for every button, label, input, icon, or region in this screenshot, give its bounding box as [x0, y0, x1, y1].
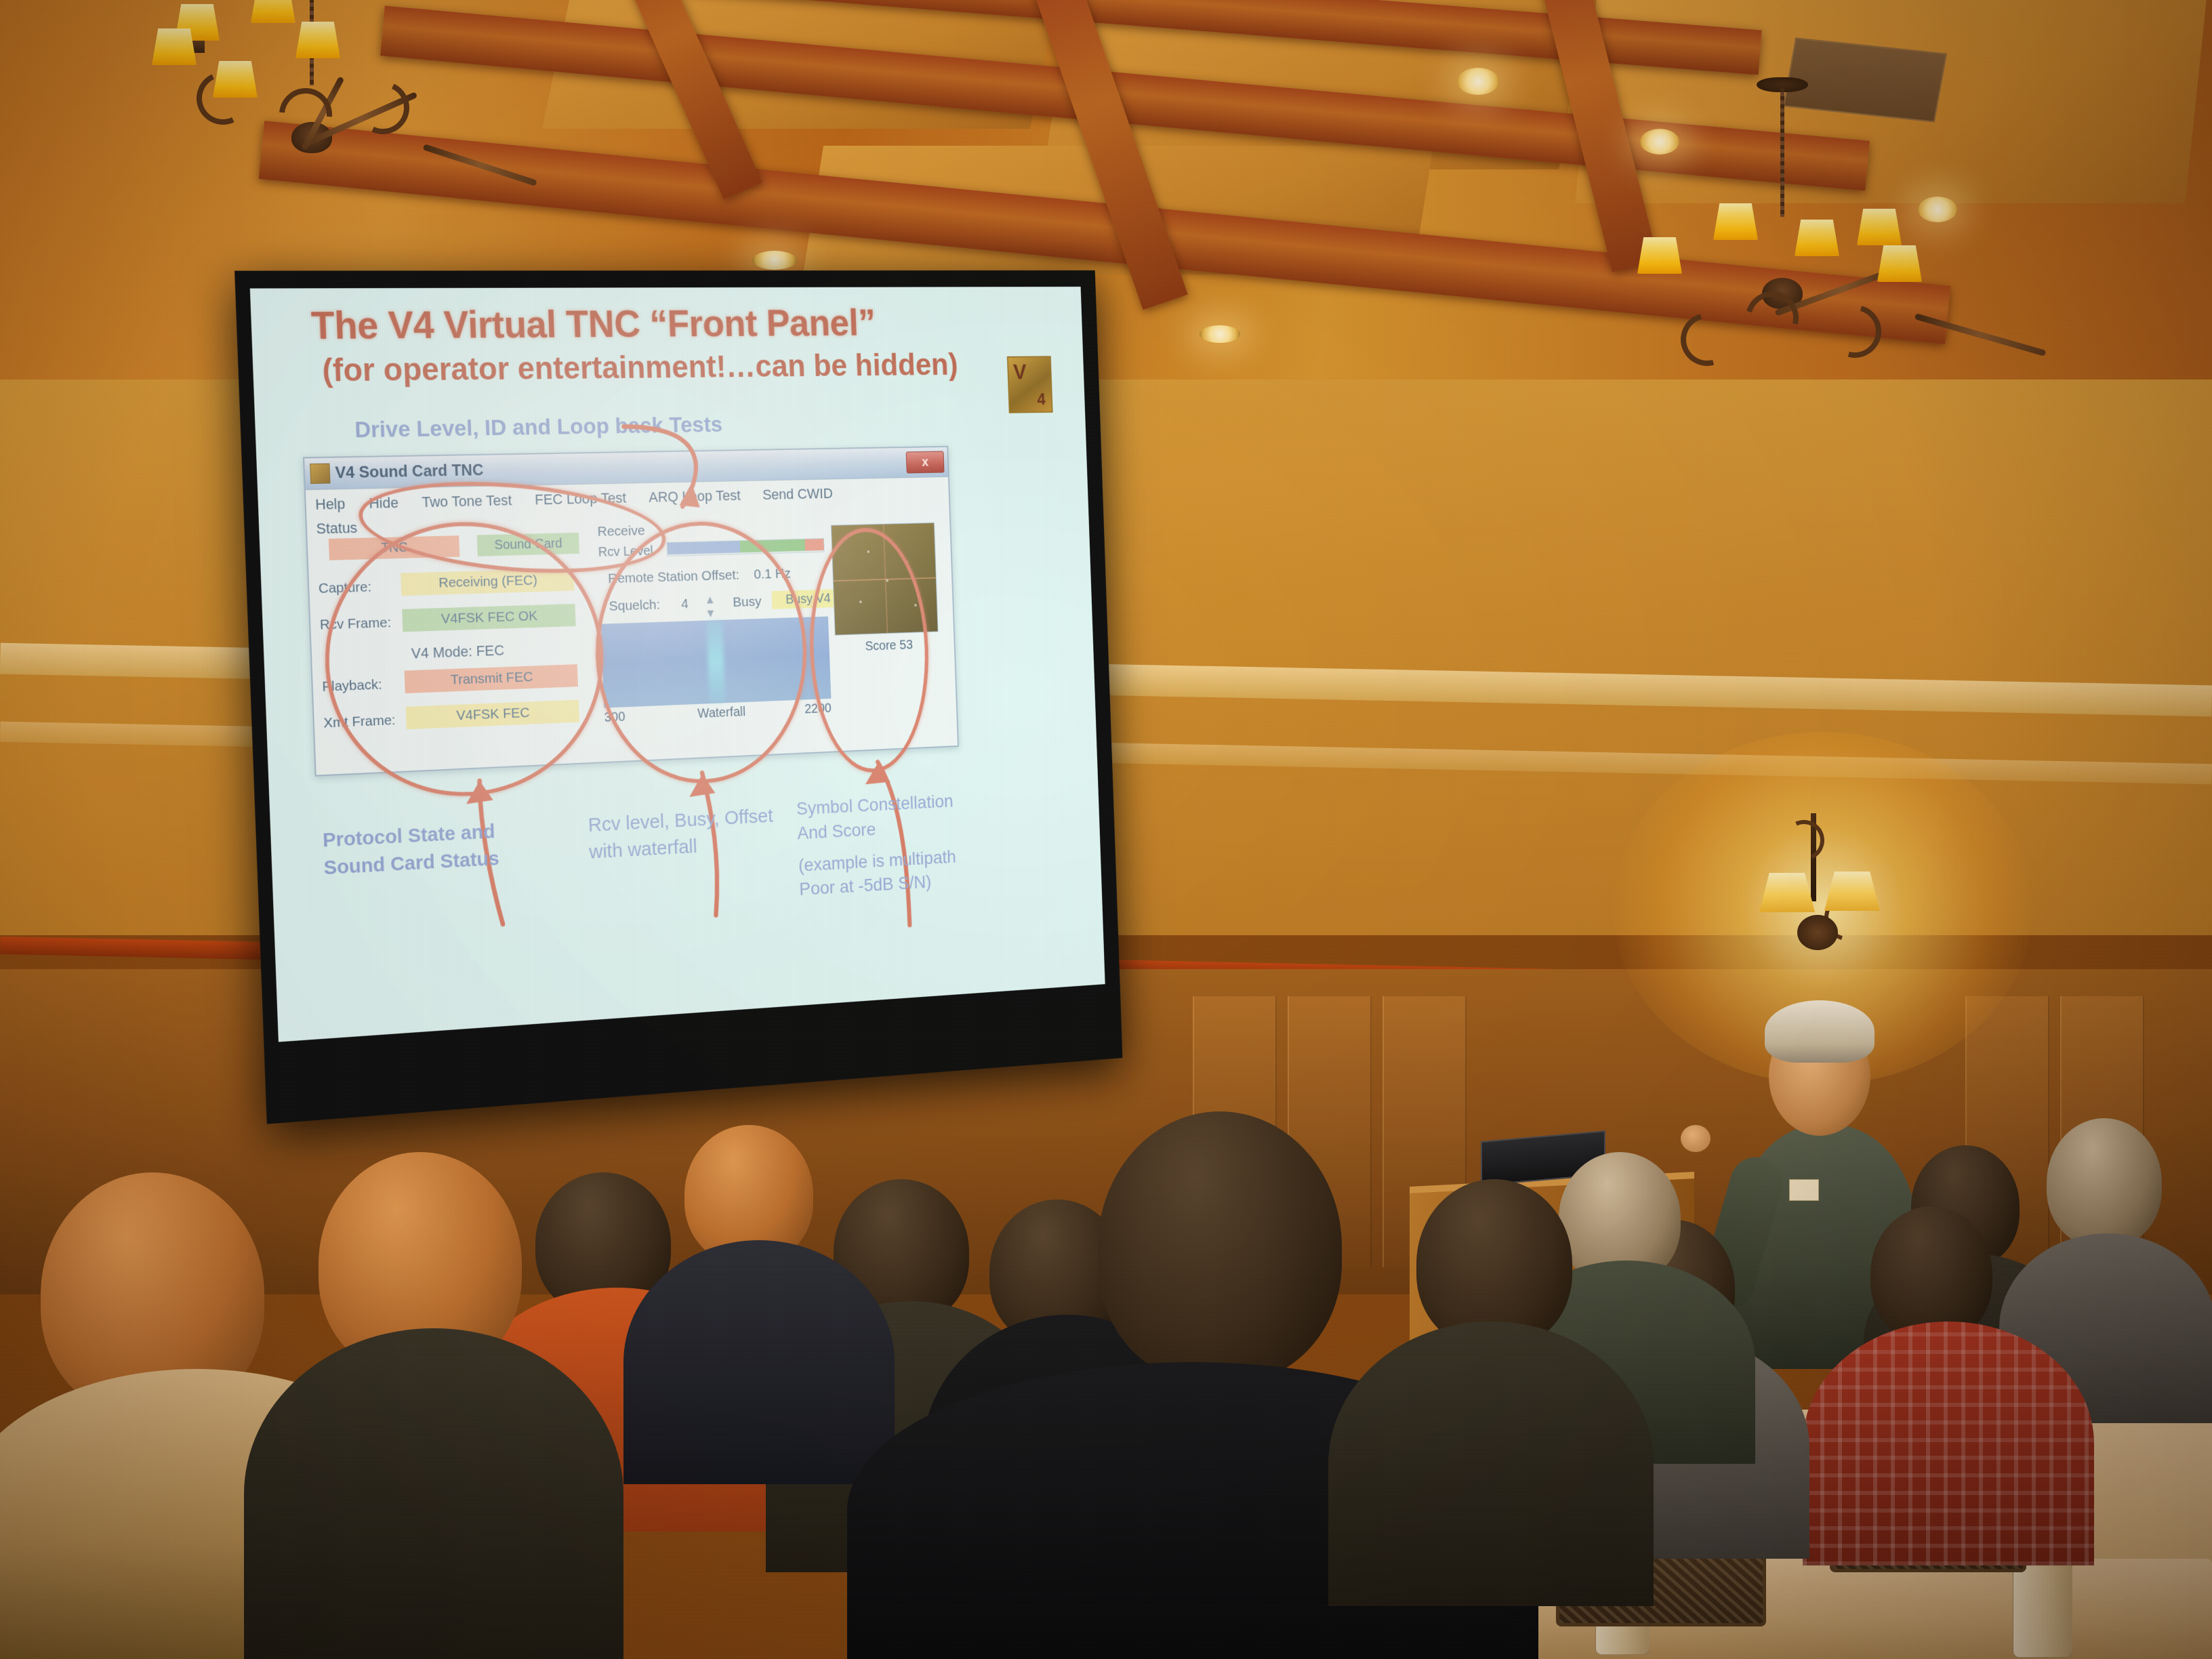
audience-head-front-center — [1098, 1111, 1342, 1382]
sconce-body — [1797, 915, 1838, 950]
recessed-downlight-5 — [1200, 325, 1240, 343]
chandelier-lamp-4 — [1857, 209, 1902, 245]
ink-arrowhead-score — [865, 762, 890, 784]
chandelier-lamp-2 — [251, 0, 295, 23]
audience-shoulders-front-right — [1328, 1322, 1654, 1606]
chandelier-lamp-2 — [1713, 203, 1758, 240]
ink-arrowhead-menu — [678, 483, 699, 508]
audience-head-back-2 — [2047, 1118, 2162, 1247]
drink-cup-3 — [2013, 1559, 2072, 1658]
chandelier-lamp-3 — [152, 28, 197, 65]
audience-head-plaid — [1870, 1206, 1992, 1342]
chandelier-lamp-4 — [295, 22, 340, 58]
recessed-downlight-4 — [752, 251, 797, 270]
presentation-slide: The V4 Virtual TNC “Front Panel” (for op… — [250, 287, 1105, 1042]
ink-arrowhead-protocol — [466, 780, 493, 804]
audience-shoulders-front-left2 — [244, 1328, 623, 1659]
chandelier-lamp-1 — [1637, 237, 1682, 274]
audience-shoulders-plaid — [1803, 1322, 2094, 1565]
chandelier-lamp-5 — [213, 61, 258, 98]
recessed-downlight-1 — [1457, 68, 1499, 95]
chandelier-right — [1606, 75, 1972, 427]
sconce-lamp-right — [1824, 872, 1880, 911]
chandelier-scroll-3 — [1819, 295, 1891, 368]
ink-arrowhead-rcv — [689, 773, 715, 796]
chandelier-scroll-3 — [349, 74, 417, 142]
presenter-name-badge — [1789, 1179, 1819, 1201]
chandelier-scroll-1 — [1671, 304, 1744, 376]
presenter-hand — [1681, 1125, 1711, 1152]
chandelier-lamp-3 — [1795, 220, 1839, 256]
audience-shoulders-mid-3 — [623, 1240, 895, 1484]
chandelier-chain — [1780, 88, 1784, 217]
sconce-lamp-left — [1759, 873, 1815, 912]
chandelier-left — [122, 0, 501, 258]
presenter-hair — [1765, 1000, 1875, 1063]
conference-room-photo: The V4 Virtual TNC “Front Panel” (for op… — [0, 0, 2212, 1659]
projection-screen: The V4 Virtual TNC “Front Panel” (for op… — [234, 270, 1122, 1124]
wall-sconce — [1735, 813, 1911, 969]
note-constellation: Symbol Constellation And Score (example … — [796, 787, 996, 901]
chandelier-lamp-5 — [1877, 245, 1922, 282]
sconce-scroll-1 — [1778, 815, 1830, 867]
v4-logo-digit: 4 — [1037, 390, 1046, 409]
